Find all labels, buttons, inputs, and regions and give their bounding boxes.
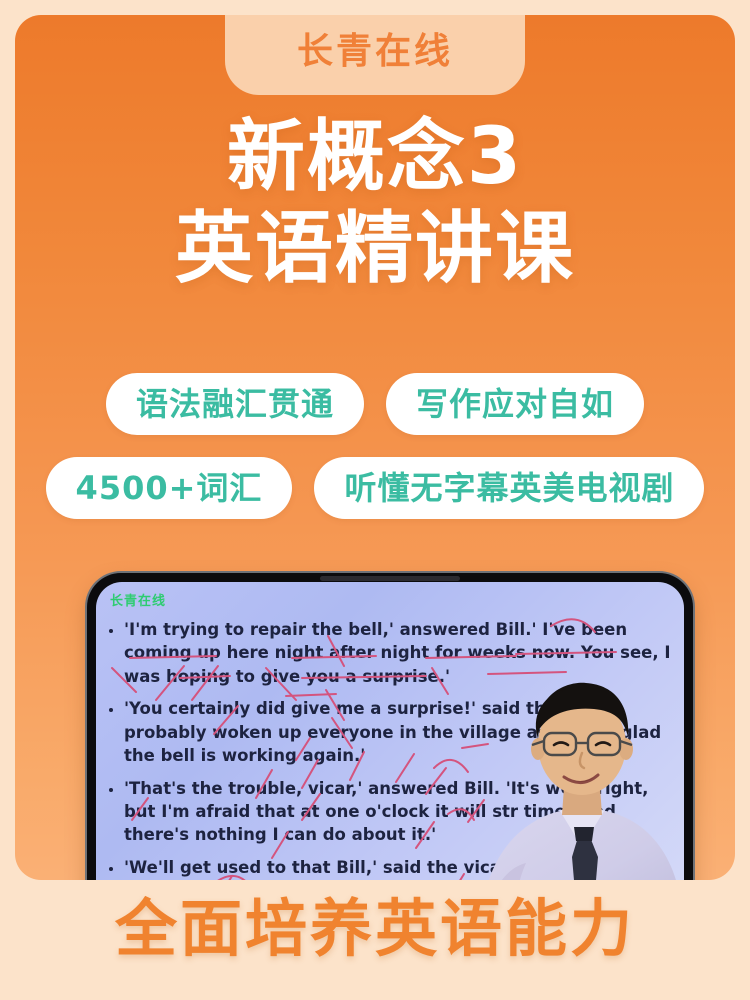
feature-pill-vocabulary[interactable]: 4500+词汇 [46,457,293,519]
lesson-slide-text: 'I'm trying to repair the bell,' answere… [104,618,678,880]
feature-pill-writing-label: 写作应对自如 [416,388,614,420]
footer-tagline-text: 全面培养英语能力 [115,892,635,965]
feature-pill-list: 语法融汇贯通 写作应对自如 4500+词汇 听懂无字幕英美电视剧 [15,373,735,541]
feature-pill-grammar-label: 语法融汇贯通 [136,388,334,420]
page-title: 新概念3 英语精讲课 [15,111,735,295]
headline-line-2: 英语精讲课 [15,203,735,295]
phone-speaker-notch [320,576,460,581]
headline-line-1: 新概念3 [15,111,735,203]
feature-pill-listening[interactable]: 听懂无字幕英美电视剧 [314,457,704,519]
poster-root: 长青在线 新概念3 英语精讲课 语法融汇贯通 写作应对自如 4500+词汇 [0,0,750,1000]
phone-screen: 长青在线 'I'm trying to repair the bell,' an… [96,582,684,880]
brand-logo-banner: 长青在线 [225,15,525,95]
brand-logo-text: 长青在线 [297,34,453,76]
feature-pill-listening-label: 听懂无字幕英美电视剧 [344,472,674,504]
footer-tagline: 全面培养英语能力 [0,898,750,960]
lesson-paragraph: 'You certainly did give me a surprise!' … [124,697,678,767]
phone-mockup: 长青在线 'I'm trying to repair the bell,' an… [87,573,693,880]
feature-pill-writing[interactable]: 写作应对自如 [386,373,644,435]
lesson-paragraph: 'That's the trouble, vicar,' answered Bi… [124,777,678,847]
feature-pill-row-1: 语法融汇贯通 写作应对自如 [15,373,735,435]
promo-card: 长青在线 新概念3 英语精讲课 语法融汇贯通 写作应对自如 4500+词汇 [15,15,735,880]
feature-pill-row-2: 4500+词汇 听懂无字幕英美电视剧 [15,457,735,519]
lesson-paragraph: 'I'm trying to repair the bell,' answere… [124,618,678,688]
feature-pill-vocabulary-label: 4500+词汇 [76,472,263,504]
lesson-paragraph: 'We'll get used to that Bill,' said the … [124,856,678,879]
feature-pill-grammar[interactable]: 语法融汇贯通 [106,373,364,435]
video-watermark: 长青在线 [110,590,166,609]
